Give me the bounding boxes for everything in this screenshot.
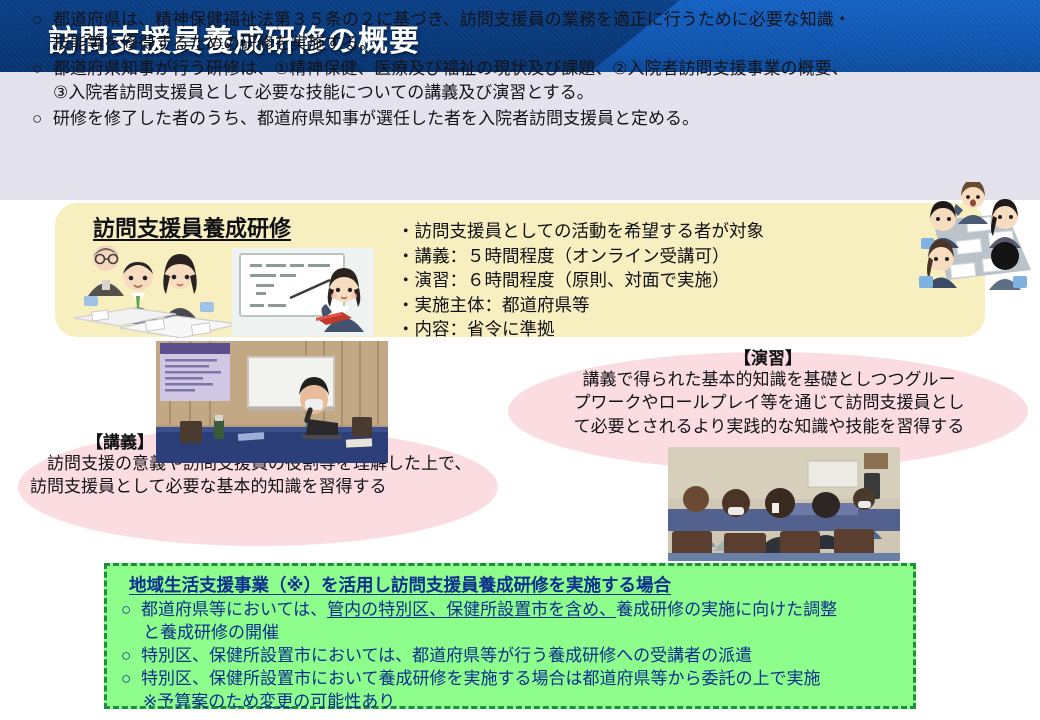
overview-item-line2: 技能等を修得するための研修を実施する。 xyxy=(53,32,1022,56)
exercise-callout-line1: 講義で得られた基本的知識を基礎としつつグルー xyxy=(524,368,1014,391)
bullet-circle-icon: ○ xyxy=(32,107,53,131)
overview-item-text: 研修を修了した者のうち、都道府県知事が選任した者を入院者訪問支援員と定める。 xyxy=(53,107,1022,131)
overview-item-text: 都道府県知事が行う研修は、①精神保健、医療及び福祉の現状及び課題、②入院者訪問支… xyxy=(53,57,1022,105)
overview-item-line1: 都道府県は、精神保健福祉法第３５条の２に基づき、訪問支援員の業務を適正に行うため… xyxy=(53,10,851,29)
community-item-post: 養成研修の実施に向けた調整 xyxy=(616,600,837,619)
seated-attendees-illustration xyxy=(68,240,248,338)
training-bullet: ・演習：６時間程度（原則、対面で実施） xyxy=(397,268,827,293)
overview-item-line1: 都道府県知事が行う研修は、①精神保健、医療及び福祉の現状及び課題、②入院者訪問支… xyxy=(53,59,848,78)
lecture-photo xyxy=(156,341,388,463)
community-box-item: ○ 特別区、保健所設置市においては、都道府県等が行う養成研修への受講者の派遣 xyxy=(121,644,911,667)
whiteboard-presenter-illustration xyxy=(232,248,374,336)
community-box-item-text: 都道府県等においては、管内の特別区、保健所設置市を含め、養成研修の実施に向けた調… xyxy=(141,598,911,621)
training-bullet: ・内容：省令に準拠 xyxy=(397,317,827,342)
community-support-box: 地域生活支援事業（※）を活用し訪問支援員養成研修を実施する場合 ○ 都道府県等に… xyxy=(104,563,916,709)
community-box-item-text: 特別区、保健所設置市においては、都道府県等が行う養成研修への受講者の派遣 xyxy=(141,644,911,667)
bullet-circle-icon: ○ xyxy=(121,644,141,667)
community-item-underlined: 管内の特別区、保健所設置市を含め、 xyxy=(327,600,616,619)
community-box-title: 地域生活支援事業（※）を活用し訪問支援員養成研修を実施する場合 xyxy=(129,572,671,597)
training-bullet: ・実施主体：都道府県等 xyxy=(397,293,827,318)
bullet-circle-icon: ○ xyxy=(121,667,141,690)
group-work-photo xyxy=(668,447,900,561)
overview-item-text: 都道府県は、精神保健福祉法第３５条の２に基づき、訪問支援員の業務を適正に行うため… xyxy=(53,8,1022,56)
bullet-circle-icon: ○ xyxy=(121,598,141,621)
group-work-illustration xyxy=(905,182,1040,307)
training-box-bullet-list: ・訪問支援員としての活動を希望する者が対象 ・講義：５時間程度（オンライン受講可… xyxy=(397,219,827,342)
community-item-sub: と養成研修の開催 xyxy=(121,621,911,644)
exercise-callout-line3: て必要とされるより実践的な知識や技能を習得する xyxy=(524,415,1014,438)
overview-item-line1: 研修を修了した者のうち、都道府県知事が選任した者を入院者訪問支援員と定める。 xyxy=(53,109,699,128)
community-box-item: ○ 特別区、保健所設置市において養成研修を実施する場合は都道府県等から委託の上で… xyxy=(121,667,911,690)
overview-list: ○ 都道府県は、精神保健福祉法第３５条の２に基づき、訪問支援員の業務を適正に行う… xyxy=(32,8,1022,132)
exercise-callout-heading: 【演習】 xyxy=(508,344,1028,369)
community-box-item-text: 特別区、保健所設置市において養成研修を実施する場合は都道府県等から委託の上で実施 xyxy=(141,667,911,690)
overview-item: ○ 研修を修了した者のうち、都道府県知事が選任した者を入院者訪問支援員と定める。 xyxy=(32,107,1022,131)
community-item-pre: 都道府県等においては、 xyxy=(141,600,327,619)
training-box-title: 訪問支援員養成研修 xyxy=(93,211,291,243)
bullet-circle-icon: ○ xyxy=(32,57,53,105)
training-bullet: ・講義：５時間程度（オンライン受講可） xyxy=(397,244,827,269)
slide-root: 訪問支援員養成研修の概要 ○ 都道府県は、精神保健福祉法第３５条の２に基づき、訪… xyxy=(0,0,1040,720)
overview-item: ○ 都道府県は、精神保健福祉法第３５条の２に基づき、訪問支援員の業務を適正に行う… xyxy=(32,8,1022,56)
lecture-callout-heading: 【講義】 xyxy=(86,428,154,453)
training-bullet: ・訪問支援員としての活動を希望する者が対象 xyxy=(397,219,827,244)
overview-item: ○ 都道府県知事が行う研修は、①精神保健、医療及び福祉の現状及び課題、②入院者訪… xyxy=(32,57,1022,105)
bullet-circle-icon: ○ xyxy=(32,8,53,56)
community-box-note: ※予算案のため変更の可能性あり xyxy=(121,690,911,713)
community-box-list: ○ 都道府県等においては、管内の特別区、保健所設置市を含め、養成研修の実施に向け… xyxy=(121,598,911,714)
community-box-item: ○ 都道府県等においては、管内の特別区、保健所設置市を含め、養成研修の実施に向け… xyxy=(121,598,911,621)
lecture-callout-line2: 訪問支援員として必要な基本的知識を習得する xyxy=(30,475,480,498)
overview-item-line2: ③入院者訪問支援員として必要な技能についての講義及び演習とする。 xyxy=(53,81,1022,105)
exercise-callout-line2: プワークやロールプレイ等を通じて訪問支援員とし xyxy=(524,391,1014,414)
exercise-callout-body: 講義で得られた基本的知識を基礎としつつグルー プワークやロールプレイ等を通じて訪… xyxy=(524,368,1014,438)
